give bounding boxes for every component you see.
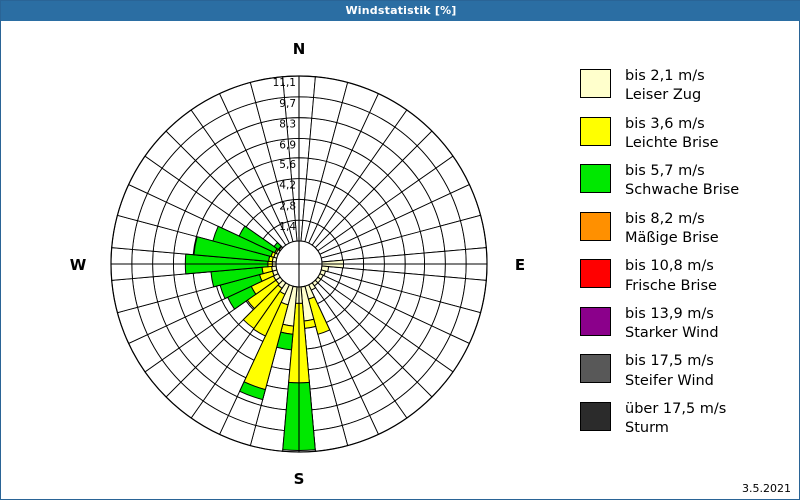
radial-tick-label: 5,6 [279,159,296,171]
window-title: Windstatistik [%] [345,1,456,21]
legend-label: bis 5,7 m/sSchwache Brise [625,162,739,201]
legend: bis 2,1 m/sLeiser Zugbis 3,6 m/sLeichte … [580,67,795,448]
legend-speed: bis 10,8 m/s [625,257,717,276]
legend-swatch-1 [580,69,611,98]
legend-item: bis 17,5 m/sSteifer Wind [580,352,795,391]
legend-speed: bis 13,9 m/s [625,305,719,324]
compass-label-north: N [293,40,306,58]
legend-name: Starker Wind [625,324,719,343]
legend-name: Steifer Wind [625,372,714,391]
radial-tick-label: 4,2 [279,180,296,192]
legend-item: bis 13,9 m/sStarker Wind [580,305,795,344]
legend-label: bis 2,1 m/sLeiser Zug [625,67,705,106]
compass-label-south: S [294,470,305,488]
compass-label-east: E [515,256,525,274]
legend-name: Schwache Brise [625,181,739,200]
legend-speed: bis 5,7 m/s [625,162,739,181]
legend-item: bis 5,7 m/sSchwache Brise [580,162,795,201]
legend-speed: bis 3,6 m/s [625,115,719,134]
window-title-bar: Windstatistik [%] [1,1,800,21]
legend-swatch-6 [580,307,611,336]
legend-label: bis 8,2 m/sMäßige Brise [625,210,719,249]
legend-swatch-3 [580,164,611,193]
radial-tick-label: 2,8 [279,200,296,212]
radial-tick-label: 8,3 [279,119,296,131]
legend-swatch-8 [580,402,611,431]
legend-name: Mäßige Brise [625,229,719,248]
compass-label-west: W [70,256,87,274]
wind-petal-segment [304,319,316,328]
legend-item: bis 2,1 m/sLeiser Zug [580,67,795,106]
legend-item: bis 8,2 m/sMäßige Brise [580,210,795,249]
legend-item: bis 10,8 m/sFrische Brise [580,257,795,296]
chart-area: 1,42,84,25,66,98,39,711,1NSWE bis 2,1 m/… [2,22,799,499]
legend-name: Frische Brise [625,277,717,296]
windrose-window: Windstatistik [%] 1,42,84,25,66,98,39,71… [0,0,800,500]
legend-name: Leiser Zug [625,86,705,105]
legend-speed: bis 17,5 m/s [625,352,714,371]
radial-tick-label: 1,4 [279,221,296,233]
legend-swatch-7 [580,354,611,383]
radial-tick-label: 6,9 [279,139,296,151]
legend-name: Leichte Brise [625,134,719,153]
legend-label: bis 17,5 m/sSteifer Wind [625,352,714,391]
legend-item: über 17,5 m/sSturm [580,400,795,439]
legend-speed: bis 8,2 m/s [625,210,719,229]
radial-tick-label: 11,1 [273,77,296,89]
legend-speed: bis 2,1 m/s [625,67,705,86]
legend-speed: über 17,5 m/s [625,400,726,419]
legend-label: bis 13,9 m/sStarker Wind [625,305,719,344]
legend-name: Sturm [625,419,726,438]
legend-label: bis 3,6 m/sLeichte Brise [625,115,719,154]
legend-label: über 17,5 m/sSturm [625,400,726,439]
legend-item: bis 3,6 m/sLeichte Brise [580,115,795,154]
date-stamp: 3.5.2021 [742,482,791,495]
legend-label: bis 10,8 m/sFrische Brise [625,257,717,296]
radial-tick-label: 9,7 [279,98,296,110]
legend-swatch-4 [580,212,611,241]
legend-swatch-2 [580,117,611,146]
legend-swatch-5 [580,259,611,288]
